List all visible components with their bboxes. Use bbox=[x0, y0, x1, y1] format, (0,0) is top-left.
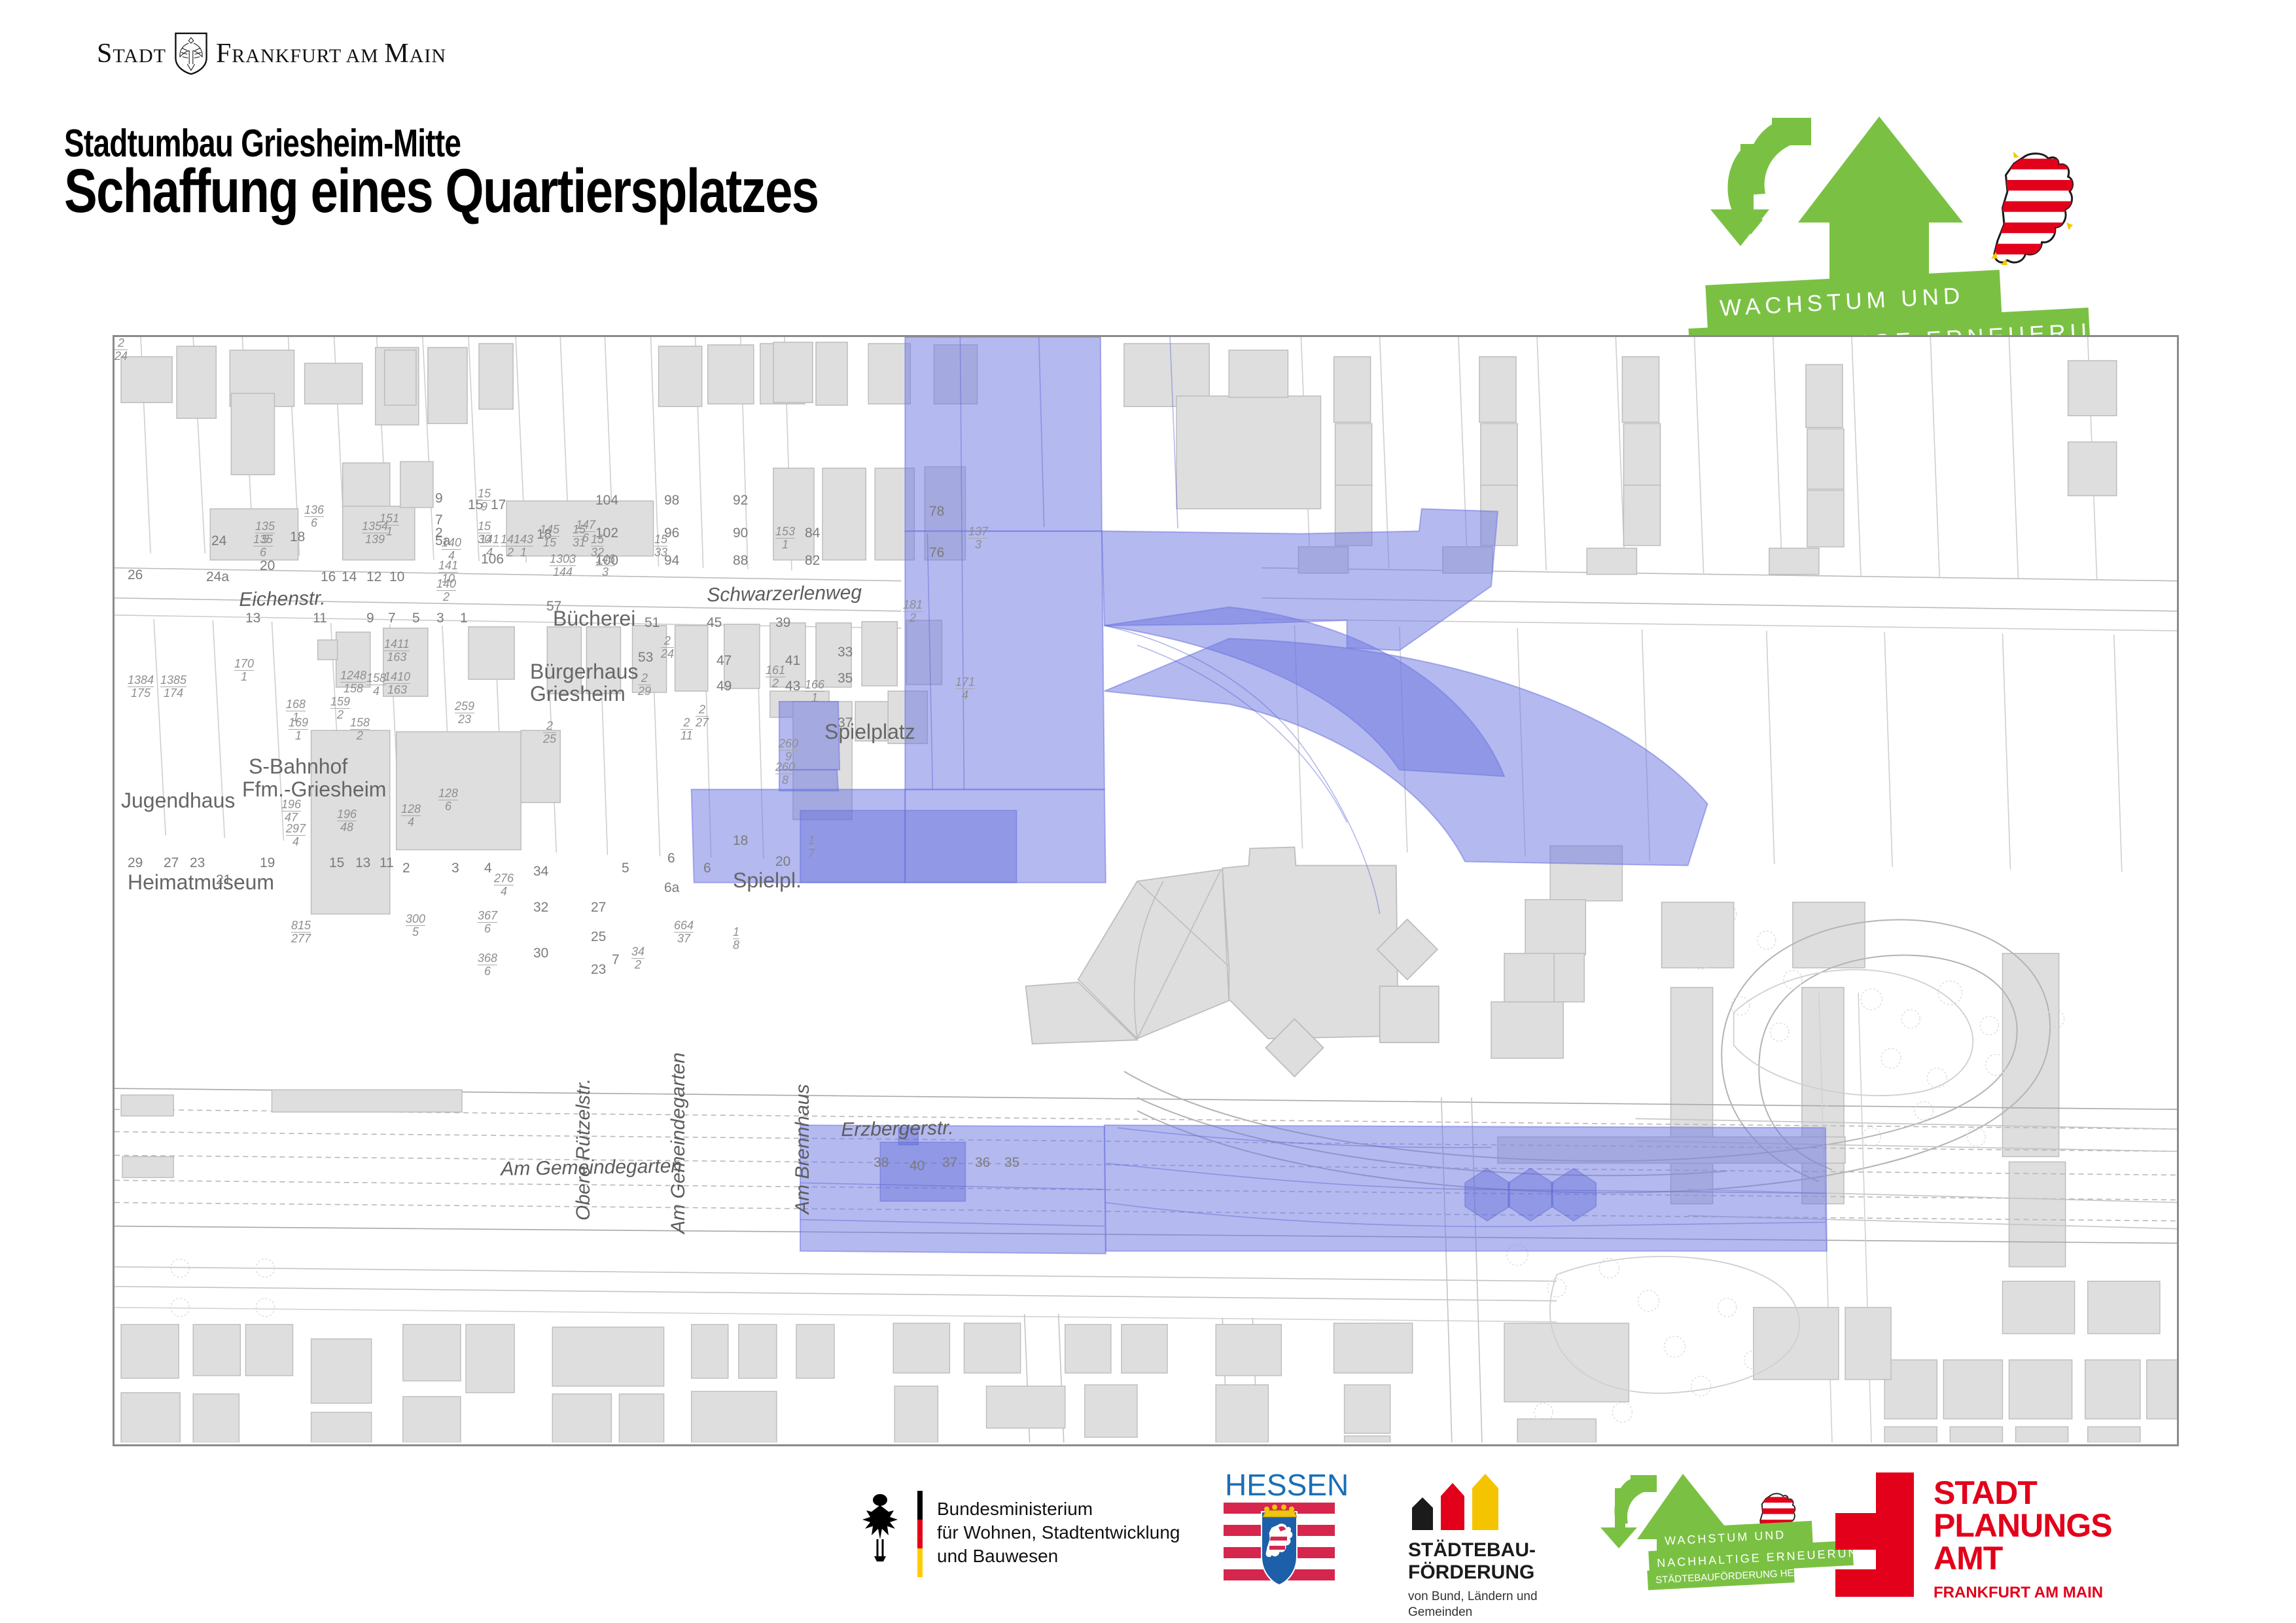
stadtplanungsamt-logo: STADT PLANUNGS AMT FRANKFURT AM MAIN bbox=[1835, 1472, 2176, 1603]
wachstum-erneuerung-logo-small: WACHSTUM UND NACHHALTIGE ERNEUERUNG STÄD… bbox=[1583, 1471, 1845, 1602]
staedtebau-line-1: STÄDTEBAU- bbox=[1408, 1539, 1536, 1561]
staedtebau-line-2: FÖRDERUNG bbox=[1408, 1561, 1536, 1584]
flag-gold-bar bbox=[917, 1548, 923, 1577]
bmwsb-line-2: für Wohnen, Stadtentwicklung bbox=[937, 1521, 1180, 1544]
city-logo-wordmark-left: STADT bbox=[97, 40, 166, 67]
wachstum-small-line-3: STÄDTEBAUFÖRDERUNG HESSEN bbox=[1655, 1566, 1821, 1586]
hessen-wordmark: HESSEN bbox=[1225, 1467, 1349, 1503]
spa-block-icon bbox=[1835, 1472, 1914, 1597]
spa-subline: FRANKFURT AM MAIN bbox=[1934, 1585, 2103, 1601]
staedtebau-sub-1: von Bund, Ländern und bbox=[1408, 1589, 1538, 1605]
spa-line-3: AMT bbox=[1934, 1542, 2112, 1575]
hessen-logo: HESSEN bbox=[1224, 1467, 1341, 1592]
bmwsb-line-3: und Bauwesen bbox=[937, 1544, 1180, 1568]
bmwsb-line-1: Bundesministerium bbox=[937, 1497, 1180, 1521]
bundesadler-icon bbox=[857, 1488, 903, 1567]
hessen-coat-of-arms-icon bbox=[1224, 1503, 1335, 1593]
city-logo-wordmark-right: FRANKFURT AM MAIN bbox=[216, 40, 446, 67]
spa-line-1: STADT bbox=[1934, 1476, 2112, 1509]
city-of-frankfurt-logo: STADT FRANKFURT AM MAIN bbox=[97, 34, 522, 73]
page-header: STADT FRANKFURT AM MAIN Stadtumbau Gries… bbox=[0, 0, 2296, 327]
bmwsb-logo: Bundesministerium für Wohnen, Stadtentwi… bbox=[857, 1479, 1250, 1584]
frankfurt-eagle-crest-icon bbox=[173, 32, 209, 75]
staedtebau-sub-2: Gemeinden bbox=[1408, 1605, 1538, 1620]
three-houses-icon bbox=[1408, 1474, 1513, 1533]
staedtebaufoerderung-logo: STÄDTEBAU- FÖRDERUNG von Bund, Ländern u… bbox=[1400, 1474, 1597, 1598]
map-vector-layer bbox=[115, 337, 2177, 1442]
flag-black-bar bbox=[917, 1491, 923, 1520]
flag-red-bar bbox=[917, 1520, 923, 1548]
page-title: Schaffung eines Quartiersplatzes bbox=[64, 156, 818, 227]
funding-logos-footer: Bundesministerium für Wohnen, Stadtentwi… bbox=[0, 1459, 2296, 1623]
cadastral-map[interactable] bbox=[113, 335, 2179, 1446]
spa-line-2: PLANUNGS bbox=[1934, 1509, 2112, 1542]
